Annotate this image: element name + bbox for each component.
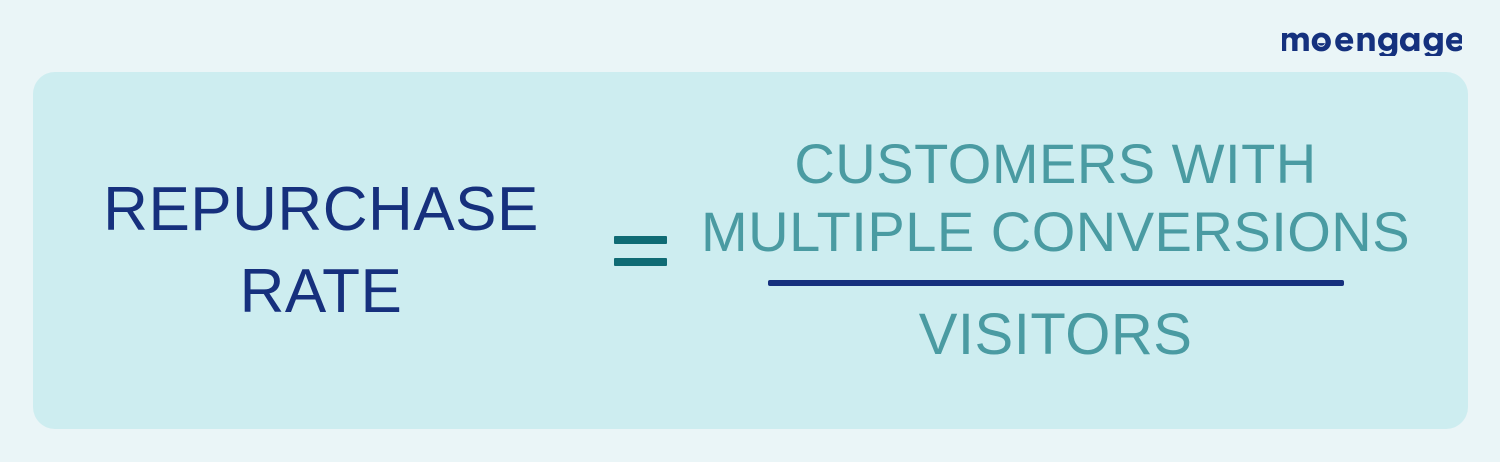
fraction-divider-bar <box>768 280 1344 286</box>
moengage-logo <box>1280 24 1462 56</box>
moengage-wordmark-icon <box>1280 24 1462 56</box>
formula-equation: REPURCHASE RATE CUSTOMERS WITH MULTIPLE … <box>33 72 1468 429</box>
formula-card: REPURCHASE RATE CUSTOMERS WITH MULTIPLE … <box>33 72 1468 429</box>
formula-fraction: CUSTOMERS WITH MULTIPLE CONVERSIONS VISI… <box>701 130 1410 371</box>
metric-name-line-1: REPURCHASE <box>51 169 591 251</box>
equals-bar-bottom <box>614 258 667 266</box>
numerator-line-2: MULTIPLE CONVERSIONS <box>701 198 1410 266</box>
metric-name: REPURCHASE RATE <box>51 169 591 333</box>
equals-sign-icon <box>597 236 683 266</box>
fraction-denominator: VISITORS <box>919 290 1193 371</box>
equals-bar-top <box>614 236 667 244</box>
fraction-numerator: CUSTOMERS WITH MULTIPLE CONVERSIONS <box>701 130 1410 275</box>
numerator-line-1: CUSTOMERS WITH <box>701 130 1410 198</box>
metric-name-line-2: RATE <box>51 251 591 333</box>
